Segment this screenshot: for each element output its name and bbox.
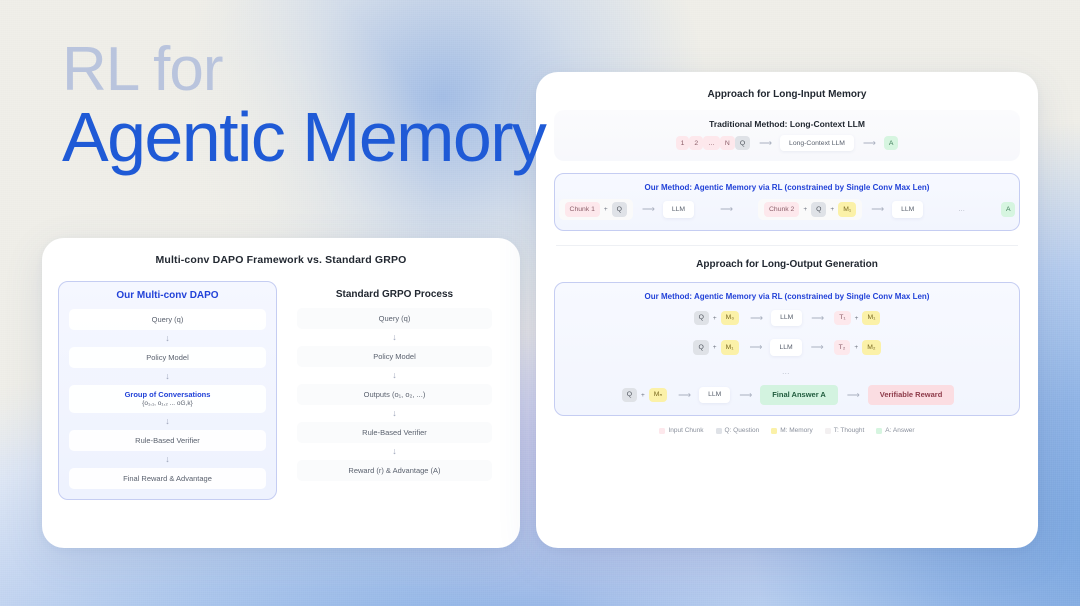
chunk-chip-n: N	[720, 136, 735, 150]
final-answer-box: Final Answer A	[760, 385, 838, 405]
legend-label: Q: Question	[725, 427, 760, 434]
memory-chip-input: M₁	[721, 340, 739, 354]
chunk-1-chip: Chunk 1	[565, 202, 600, 216]
traditional-method-row: 1 2 … N Q ⟶ Long-Context LLM ⟶ A	[564, 135, 1010, 151]
legend-label: Input Chunk	[668, 427, 703, 434]
output-row: Q + M₀ ⟶ LLM ⟶ T₁ + M₁	[565, 308, 1009, 328]
plus-symbol: +	[713, 315, 717, 322]
arrow-icon: ⟶	[750, 139, 780, 148]
output-row: Q + M₁ ⟶ LLM ⟶ T₂ + M₂	[565, 337, 1009, 357]
plus-symbol: +	[641, 392, 645, 399]
question-chip: Q	[693, 340, 708, 354]
our-method-output-title: Our Method: Agentic Memory via RL (const…	[565, 292, 1009, 301]
legend-label: T: Thought	[834, 427, 865, 434]
group-of-conversations-notation: {o₁,₁, o₁,₂ ... oG,k}	[73, 400, 262, 407]
our-method-input-row: Chunk 1 + Q ⟶ LLM ⟶ Chunk 2 + Q + M₁ ⟶ L…	[565, 199, 1009, 219]
memory-chip-output: M₁	[862, 311, 880, 325]
memory-chip: M₁	[838, 202, 856, 216]
arrow-icon: ⟶	[741, 314, 771, 323]
section-title-long-output: Approach for Long-Output Generation	[554, 259, 1020, 270]
arrow-icon: ⟶	[694, 205, 758, 214]
chunk-chip-1: 1	[676, 136, 690, 150]
legend-item-question: Q: Question	[716, 427, 760, 434]
flow-arrow-icon: ↓	[297, 443, 492, 460]
thought-chip: T₁	[834, 311, 850, 325]
arrow-icon: ⟶	[741, 343, 771, 352]
traditional-method-band: Traditional Method: Long-Context LLM 1 2…	[554, 110, 1020, 161]
legend-label: A: Answer	[885, 427, 914, 434]
answer-chip: A	[884, 136, 899, 150]
llm-box: LLM	[699, 387, 730, 403]
tm-group: T₂ + M₂	[832, 337, 883, 357]
our-method-output-band: Our Method: Agentic Memory via RL (const…	[554, 282, 1020, 416]
arrow-icon: ⟶	[669, 391, 699, 400]
memory-chip-input: Mₙ	[649, 388, 667, 402]
thought-chip: T₂	[834, 340, 851, 354]
our-method-input-title: Our Method: Agentic Memory via RL (const…	[565, 183, 1009, 192]
flow-arrow-icon: ↓	[297, 367, 492, 384]
plus-symbol: +	[604, 206, 608, 213]
legend-swatch-question	[716, 428, 722, 434]
flow-heading-standard-grpo: Standard GRPO Process	[297, 289, 492, 300]
flow-step-rule-based-verifier: Rule-Based Verifier	[297, 422, 492, 443]
long-context-llm-box: Long-Context LLM	[780, 135, 854, 151]
arrow-icon: ⟶	[730, 391, 760, 400]
tm-group: T₁ + M₁	[832, 308, 882, 328]
chunk1-group: Chunk 1 + Q	[559, 199, 633, 219]
memory-chip-output: M₂	[862, 340, 880, 354]
llm-box: LLM	[663, 201, 694, 217]
approach-card: Approach for Long-Input Memory Tradition…	[536, 72, 1038, 548]
flow-step-policy-model: Policy Model	[69, 347, 266, 368]
title-line-1: RL for	[62, 40, 545, 101]
plus-symbol: +	[855, 315, 859, 322]
section-divider	[556, 245, 1018, 246]
llm-box: LLM	[771, 310, 802, 326]
arrow-icon: ⟶	[633, 205, 663, 214]
memory-chip-input: M₀	[721, 311, 739, 325]
llm-box: LLM	[892, 201, 923, 217]
flow-arrow-icon: ↓	[297, 329, 492, 346]
flow-step-outputs: Outputs (o₁, o₂, ...)	[297, 384, 492, 405]
legend-item-input-chunk: Input Chunk	[659, 427, 703, 434]
ellipsis-label: …	[953, 202, 971, 216]
plus-symbol: +	[803, 206, 807, 213]
dapo-columns: Our Multi-conv DAPO Query (q) ↓ Policy M…	[58, 281, 504, 500]
qm-group-final: Q + Mₙ	[620, 385, 669, 405]
flow-step-reward-advantage: Reward (r) & Advantage (A)	[297, 460, 492, 481]
flow-step-query: Query (q)	[69, 309, 266, 330]
flow-column-our-dapo: Our Multi-conv DAPO Query (q) ↓ Policy M…	[58, 281, 277, 500]
legend-swatch-input-chunk	[659, 428, 665, 434]
final-output-row: Q + Mₙ ⟶ LLM ⟶ Final Answer A ⟶ Verifiab…	[565, 385, 1009, 405]
chunk-chip-2: 2	[689, 136, 703, 150]
arrow-icon: ⟶	[862, 205, 892, 214]
flow-arrow-icon: ↓	[69, 330, 266, 347]
question-chip: Q	[811, 202, 826, 216]
legend: Input Chunk Q: Question M: Memory T: Tho…	[554, 427, 1020, 434]
legend-item-thought: T: Thought	[825, 427, 865, 434]
question-chip: Q	[735, 136, 750, 150]
arrow-icon: ⟶	[854, 139, 884, 148]
question-chip: Q	[694, 311, 709, 325]
group-of-conversations-label: Group of Conversations	[73, 390, 262, 399]
flow-column-standard-grpo: Standard GRPO Process Query (q) ↓ Policy…	[285, 281, 504, 500]
chunk-2-chip: Chunk 2	[764, 202, 799, 216]
question-chip: Q	[612, 202, 627, 216]
flow-step-group-of-conversations: Group of Conversations {o₁,₁, o₁,₂ ... o…	[69, 385, 266, 413]
legend-item-answer: A: Answer	[876, 427, 914, 434]
answer-chip: A	[1001, 202, 1016, 216]
our-method-input-band: Our Method: Agentic Memory via RL (const…	[554, 173, 1020, 230]
section-title-long-input: Approach for Long-Input Memory	[554, 89, 1020, 100]
qm-group: Q + M₁	[691, 337, 740, 357]
llm-box: LLM	[770, 339, 801, 355]
flow-arrow-icon: ↓	[69, 413, 266, 430]
flow-arrow-icon: ↓	[297, 405, 492, 422]
plus-symbol: +	[713, 344, 717, 351]
legend-swatch-thought	[825, 428, 831, 434]
flow-step-final-reward-advantage: Final Reward & Advantage	[69, 468, 266, 489]
arrow-icon: ⟶	[802, 314, 832, 323]
chunk2-group: Chunk 2 + Q + M₁	[758, 199, 862, 219]
flow-arrow-icon: ↓	[69, 368, 266, 385]
legend-item-memory: M: Memory	[771, 427, 813, 434]
question-chip: Q	[622, 388, 637, 402]
flow-step-policy-model: Policy Model	[297, 346, 492, 367]
page-title: RL for Agentic Memory	[62, 40, 545, 171]
plus-symbol: +	[830, 206, 834, 213]
title-line-2: Agentic Memory	[62, 103, 545, 172]
left-card-title: Multi-conv DAPO Framework vs. Standard G…	[58, 254, 504, 266]
flow-step-query: Query (q)	[297, 308, 492, 329]
dapo-comparison-card: Multi-conv DAPO Framework vs. Standard G…	[42, 238, 520, 548]
arrow-icon: ⟶	[838, 391, 868, 400]
qm-group: Q + M₀	[692, 308, 742, 328]
verifiable-reward-box: Verifiable Reward	[868, 385, 955, 405]
chunk-chip-ellipsis: …	[703, 136, 720, 150]
arrow-icon: ⟶	[802, 343, 832, 352]
legend-swatch-answer	[876, 428, 882, 434]
flow-step-rule-based-verifier: Rule-Based Verifier	[69, 430, 266, 451]
traditional-method-title: Traditional Method: Long-Context LLM	[564, 119, 1010, 129]
flow-arrow-icon: ↓	[69, 451, 266, 468]
output-rows-ellipsis: …	[565, 367, 1009, 376]
legend-label: M: Memory	[780, 427, 813, 434]
plus-symbol: +	[854, 344, 858, 351]
legend-swatch-memory	[771, 428, 777, 434]
flow-heading-our-dapo: Our Multi-conv DAPO	[69, 290, 266, 301]
